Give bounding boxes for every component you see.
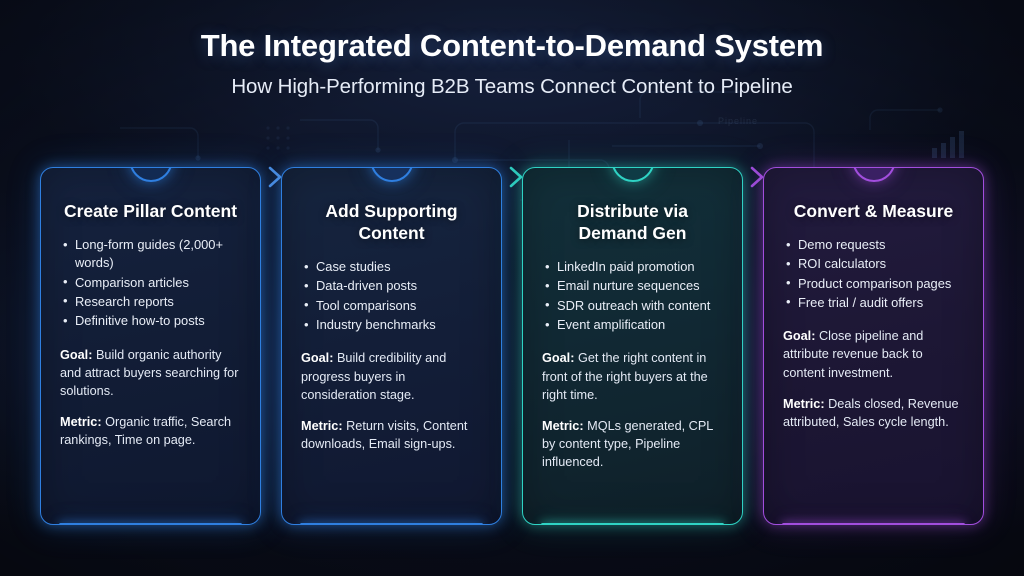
step-goal-3: Goal: Get the right content in front of …	[538, 349, 727, 403]
list-item: Research reports	[62, 293, 243, 311]
bar-chart-motif	[932, 131, 964, 158]
step-number-badge-3: 3	[611, 167, 654, 182]
step-card-wrapper-2: 2 Add Supporting Content Case studies Da…	[281, 167, 502, 525]
list-item: Long-form guides (2,000+ words)	[62, 236, 243, 273]
list-item: Comparison articles	[62, 274, 243, 292]
step-number-badge-1: 1	[129, 167, 172, 182]
step-card-3[interactable]: 3 Distribute via Demand Gen LinkedIn pai…	[522, 167, 743, 525]
step-card-row: 1 Create Pillar Content Long-form guides…	[40, 167, 984, 525]
metric-label: Metric:	[783, 397, 825, 411]
step-title-4: Convert & Measure	[779, 200, 968, 222]
step-goal-1: Goal: Build organic authority and attrac…	[56, 346, 245, 400]
page-title: The Integrated Content-to-Demand System	[0, 28, 1024, 64]
goal-label: Goal:	[783, 329, 815, 343]
step-goal-2: Goal: Build credibility and progress buy…	[297, 349, 486, 403]
step-card-1[interactable]: 1 Create Pillar Content Long-form guides…	[40, 167, 261, 525]
step-title-3: Distribute via Demand Gen	[538, 200, 727, 244]
list-item: Industry benchmarks	[303, 316, 484, 334]
goal-label: Goal:	[542, 351, 574, 365]
step-bullet-list-4: Demo requests ROI calculators Product co…	[779, 236, 968, 312]
list-item: LinkedIn paid promotion	[544, 258, 725, 276]
list-item: ROI calculators	[785, 255, 966, 273]
step-card-wrapper-3: 3 Distribute via Demand Gen LinkedIn pai…	[522, 167, 743, 525]
list-item: Definitive how-to posts	[62, 312, 243, 330]
step-metric-2: Metric: Return visits, Content downloads…	[297, 417, 486, 453]
infographic-canvas: Pipeline The Integrated Content-to-Deman…	[0, 0, 1024, 576]
step-metric-4: Metric: Deals closed, Revenue attributed…	[779, 395, 968, 431]
step-card-wrapper-4: 4 Convert & Measure Demo requests ROI ca…	[763, 167, 984, 525]
list-item: Tool comparisons	[303, 297, 484, 315]
list-item: Data-driven posts	[303, 277, 484, 295]
background-watermark-label: Pipeline	[718, 116, 758, 126]
step-bullet-list-1: Long-form guides (2,000+ words) Comparis…	[56, 236, 245, 331]
metric-label: Metric:	[301, 419, 343, 433]
metric-label: Metric:	[542, 419, 584, 433]
step-card-2[interactable]: 2 Add Supporting Content Case studies Da…	[281, 167, 502, 525]
step-title-1: Create Pillar Content	[56, 200, 245, 222]
list-item: Demo requests	[785, 236, 966, 254]
list-item: Email nurture sequences	[544, 277, 725, 295]
metric-label: Metric:	[60, 415, 102, 429]
step-metric-3: Metric: MQLs generated, CPL by content t…	[538, 417, 727, 471]
list-item: Product comparison pages	[785, 275, 966, 293]
list-item: SDR outreach with content	[544, 297, 725, 315]
step-bullet-list-3: LinkedIn paid promotion Email nurture se…	[538, 258, 727, 334]
goal-label: Goal:	[60, 348, 92, 362]
goal-label: Goal:	[301, 351, 333, 365]
step-number-badge-2: 2	[370, 167, 413, 182]
step-card-wrapper-1: 1 Create Pillar Content Long-form guides…	[40, 167, 261, 525]
list-item: Event amplification	[544, 316, 725, 334]
step-bullet-list-2: Case studies Data-driven posts Tool comp…	[297, 258, 486, 334]
step-card-4[interactable]: 4 Convert & Measure Demo requests ROI ca…	[763, 167, 984, 525]
page-subtitle: How High-Performing B2B Teams Connect Co…	[0, 75, 1024, 99]
step-number-badge-4: 4	[852, 167, 895, 182]
list-item: Free trial / audit offers	[785, 294, 966, 312]
step-metric-1: Metric: Organic traffic, Search rankings…	[56, 413, 245, 449]
step-goal-4: Goal: Close pipeline and attribute reven…	[779, 327, 968, 381]
header: The Integrated Content-to-Demand System …	[0, 0, 1024, 99]
step-title-2: Add Supporting Content	[297, 200, 486, 244]
list-item: Case studies	[303, 258, 484, 276]
